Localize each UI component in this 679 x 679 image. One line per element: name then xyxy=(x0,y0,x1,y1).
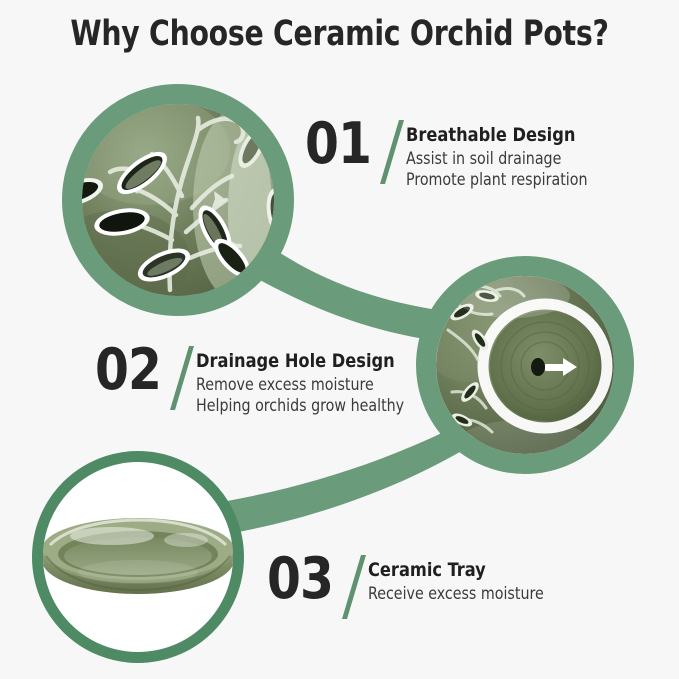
feature-number-02: 02 xyxy=(95,344,161,396)
feature-image-2 xyxy=(413,258,624,464)
feature-item-02: 02 Drainage Hole Design Remove excess mo… xyxy=(95,344,413,417)
feature-heading-03: Ceramic Tray xyxy=(368,559,542,581)
feature-line-01-2: Promote plant respiration xyxy=(406,170,588,191)
feature-line-02-2: Helping orchids grow healthy xyxy=(196,396,404,417)
slash-divider-icon xyxy=(168,346,194,410)
feature-item-03: 03 Ceramic Tray Receive excess moisture xyxy=(267,553,551,619)
feature-line-01-1: Assist in soil drainage xyxy=(406,149,588,170)
feature-number-03: 03 xyxy=(267,553,333,605)
feature-line-02-1: Remove excess moisture xyxy=(196,375,404,396)
feature-image-1 xyxy=(50,92,293,310)
infographic-canvas: Why Choose Ceramic Orchid Pots? xyxy=(0,0,679,679)
feature-item-01: 01 Breathable Design Assist in soil drai… xyxy=(305,118,595,191)
slash-divider-icon xyxy=(340,555,366,619)
feature-heading-02: Drainage Hole Design xyxy=(196,350,402,372)
feature-image-3 xyxy=(33,452,243,662)
slash-divider-icon xyxy=(378,120,404,184)
feature-line-03-1: Receive excess moisture xyxy=(368,584,544,605)
feature-heading-01: Breathable Design xyxy=(406,124,586,146)
feature-number-01: 01 xyxy=(305,118,371,170)
